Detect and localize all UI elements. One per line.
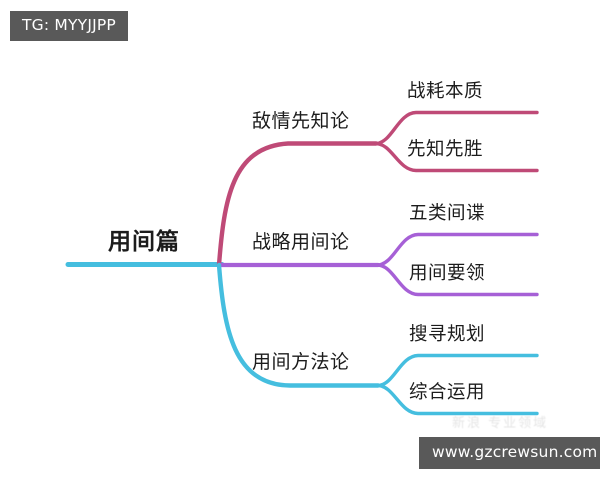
leaf-node-label-3-1[interactable]: 搜寻规划 (409, 326, 485, 345)
telegram-handle-badge: TG: MYYJJPP (10, 11, 128, 41)
branch-node-label-1[interactable]: 敌情先知论 (252, 112, 350, 131)
leaf-node-label-2-2[interactable]: 用间要领 (409, 265, 485, 284)
root-node-label[interactable]: 用间篇 (108, 231, 180, 254)
website-watermark-badge: www.gzcrewsun.com (419, 437, 600, 469)
branch-3-leaf-1-line (378, 356, 537, 386)
leaf-node-label-2-1[interactable]: 五类间谍 (409, 205, 485, 224)
branch-node-label-3[interactable]: 用间方法论 (252, 353, 350, 372)
branch-2-leaf-1-line (378, 235, 537, 266)
mindmap-canvas: 用间篇 敌情先知论 战耗本质 先知先胜 战略用间论 五类间谍 用间要领 用间方法… (0, 0, 600, 480)
faint-source-watermark: 新浪 专业领域 (452, 412, 548, 431)
branch-node-label-2[interactable]: 战略用间论 (252, 233, 350, 252)
leaf-node-label-3-2[interactable]: 综合运用 (409, 384, 485, 403)
leaf-node-label-1-2[interactable]: 先知先胜 (407, 141, 483, 160)
leaf-node-label-1-1[interactable]: 战耗本质 (407, 83, 483, 102)
